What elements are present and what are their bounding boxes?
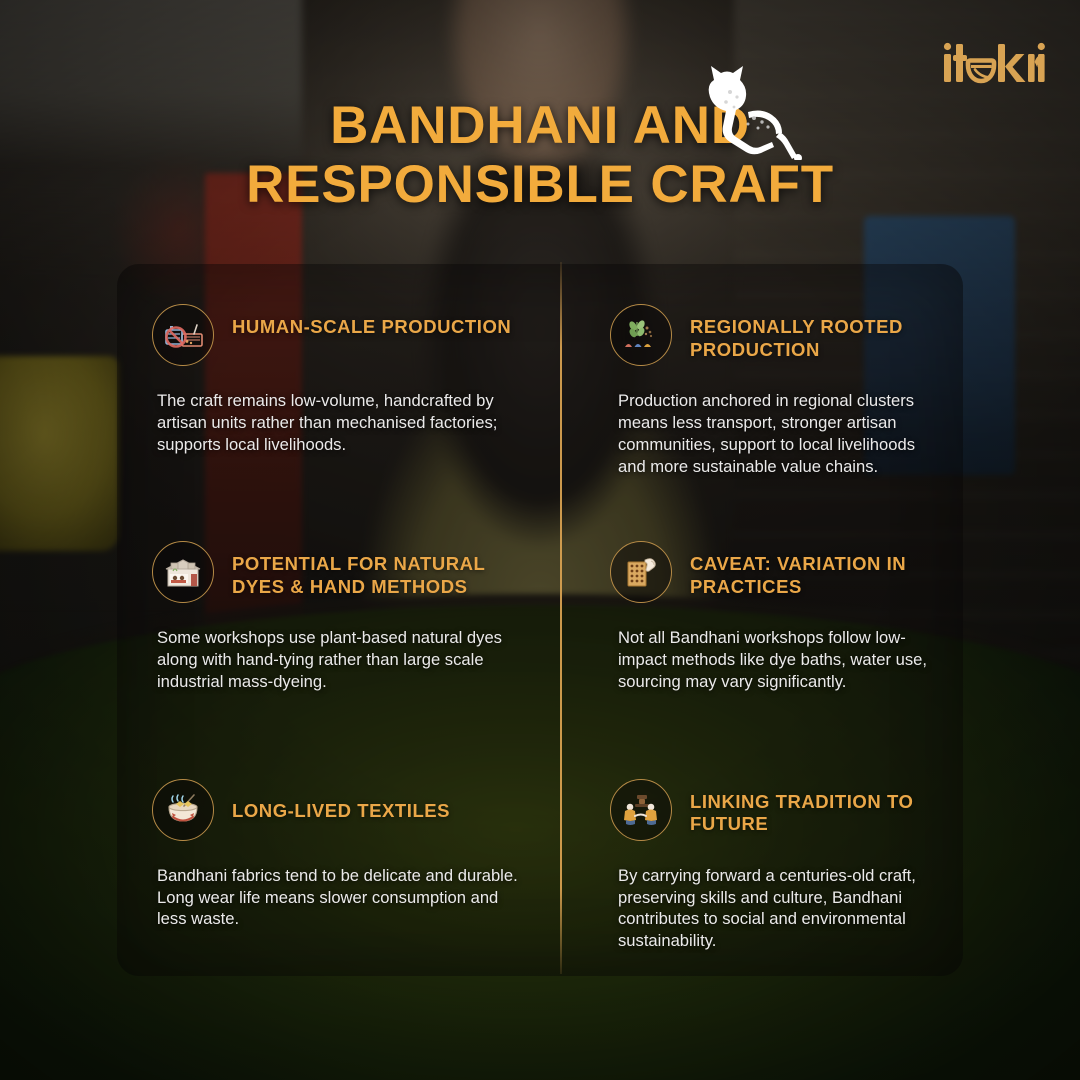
card-header: LONG-LIVED TEXTILES — [152, 779, 530, 841]
white-cat-icon — [684, 52, 812, 160]
card-header: CAVEAT: VARIATION IN PRACTICES — [610, 541, 935, 603]
infographic-canvas: BANDHANI AND RESPONSIBLE CRAFT — [0, 0, 1080, 1080]
artisan-workshop-building-icon — [152, 541, 214, 603]
card-caveat-variation-in-practices[interactable]: CAVEAT: VARIATION IN PRACTICES Not all B… — [560, 501, 963, 738]
card-natural-dyes-hand-methods[interactable]: POTENTIAL FOR NATURAL DYES & HAND METHOD… — [117, 501, 560, 738]
benefits-grid: HUMAN-SCALE PRODUCTION The craft remains… — [117, 264, 963, 976]
natural-dye-plants-icon — [610, 304, 672, 366]
steaming-dye-pot-icon — [152, 779, 214, 841]
card-title: HUMAN-SCALE PRODUCTION — [232, 304, 511, 339]
card-header: HUMAN-SCALE PRODUCTION — [152, 304, 530, 366]
card-body: By carrying forward a centuries-old craf… — [618, 865, 935, 953]
card-header: POTENTIAL FOR NATURAL DYES & HAND METHOD… — [152, 541, 530, 603]
title-line-1: BANDHANI AND — [120, 96, 960, 155]
card-title: POTENTIAL FOR NATURAL DYES & HAND METHOD… — [232, 541, 530, 598]
two-artisans-working-icon — [610, 779, 672, 841]
card-linking-tradition-to-future[interactable]: LINKING TRADITION TO FUTURE By carrying … — [560, 739, 963, 976]
card-body: Not all Bandhani workshops follow low-im… — [618, 627, 935, 693]
card-title: LINKING TRADITION TO FUTURE — [690, 779, 935, 836]
card-body: The craft remains low-volume, handcrafte… — [157, 390, 530, 456]
card-body: Some workshops use plant-based natural d… — [157, 627, 530, 693]
card-long-lived-textiles[interactable]: LONG-LIVED TEXTILES Bandhani fabrics ten… — [117, 739, 560, 976]
card-regionally-rooted-production[interactable]: REGIONALLY ROOTED PRODUCTION Production … — [560, 264, 963, 501]
card-body: Bandhani fabrics tend to be delicate and… — [157, 865, 530, 931]
card-title: CAVEAT: VARIATION IN PRACTICES — [690, 541, 935, 598]
hand-holding-bandhani-fabric-icon — [610, 541, 672, 603]
title-line-2: RESPONSIBLE CRAFT — [120, 155, 960, 214]
card-human-scale-production[interactable]: HUMAN-SCALE PRODUCTION The craft remains… — [117, 264, 560, 501]
no-factory-machine-icon — [152, 304, 214, 366]
itokri-logo — [942, 40, 1046, 86]
card-title: LONG-LIVED TEXTILES — [232, 779, 450, 823]
card-header: LINKING TRADITION TO FUTURE — [610, 779, 935, 841]
card-header: REGIONALLY ROOTED PRODUCTION — [610, 304, 935, 366]
card-body: Production anchored in regional clusters… — [618, 390, 935, 478]
card-title: REGIONALLY ROOTED PRODUCTION — [690, 304, 935, 361]
page-title: BANDHANI AND RESPONSIBLE CRAFT — [0, 96, 1080, 215]
